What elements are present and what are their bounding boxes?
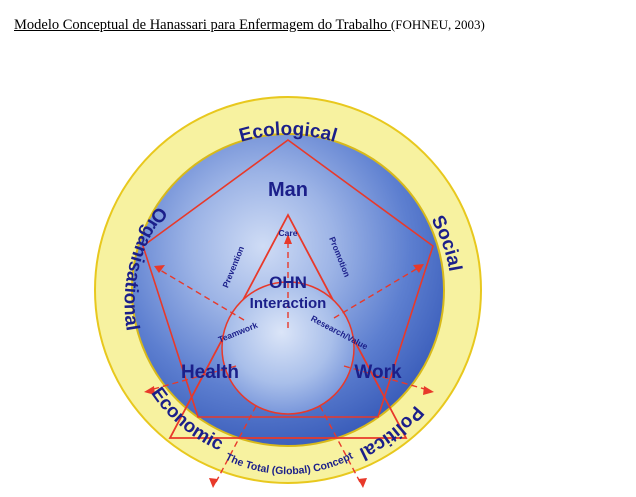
- triangle-label-health: Health: [181, 362, 239, 383]
- inner-label-care: Care: [279, 228, 298, 238]
- core-label-ohn: OHN: [269, 273, 307, 292]
- core-label-interaction: Interaction: [250, 295, 327, 312]
- ohn-conceptual-model-figure: Ecological Social Political Economic Org…: [88, 90, 488, 490]
- triangle-label-man: Man: [268, 179, 308, 201]
- page-title-main: Modelo Conceptual de Hanassari para Enfe…: [14, 17, 391, 33]
- page-title-citation: (FOHNEU, 2003): [391, 17, 485, 32]
- triangle-label-work: Work: [354, 362, 402, 383]
- page-title: Modelo Conceptual de Hanassari para Enfe…: [14, 17, 485, 34]
